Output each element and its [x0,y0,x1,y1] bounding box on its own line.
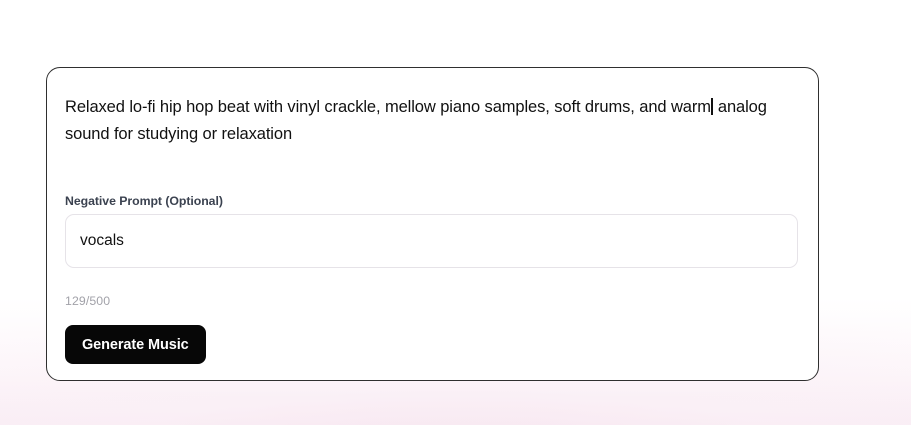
negative-prompt-label: Negative Prompt (Optional) [65,194,223,208]
music-generator-card: Relaxed lo-fi hip hop beat with vinyl cr… [46,67,819,381]
generate-music-button[interactable]: Generate Music [65,325,206,364]
prompt-textarea[interactable]: Relaxed lo-fi hip hop beat with vinyl cr… [65,94,798,180]
card-content: Relaxed lo-fi hip hop beat with vinyl cr… [65,68,800,380]
character-counter: 129/500 [65,294,110,308]
negative-prompt-input[interactable] [65,214,798,268]
prompt-text-before-caret: Relaxed lo-fi hip hop beat with vinyl cr… [65,98,711,116]
